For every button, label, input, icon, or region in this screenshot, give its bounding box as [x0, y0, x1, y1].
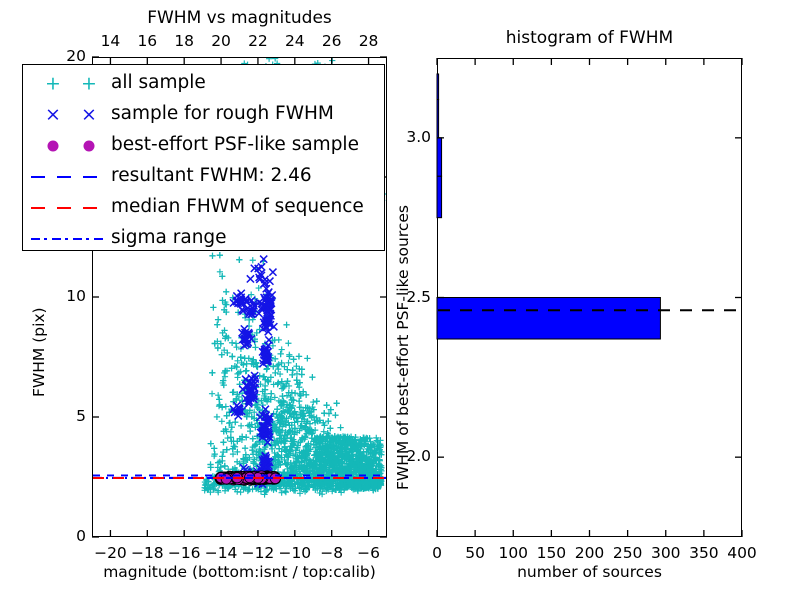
legend-marker-circle-icon — [23, 130, 111, 161]
legend-marker-dashed-line-icon — [23, 192, 111, 223]
legend-marker-cross-icon: ×× — [23, 99, 111, 130]
legend-item-label: all sample — [111, 74, 206, 93]
legend-marker-plus-icon: ++ — [23, 68, 111, 99]
histogram-x-tick-label: 200 — [570, 546, 610, 562]
histogram-x-tick-label: 400 — [722, 546, 762, 562]
legend-item[interactable]: best-effort PSF-like sample — [23, 130, 384, 161]
histogram-x-axis-label: number of sources — [437, 565, 742, 581]
legend-item[interactable]: ××sample for rough FWHM — [23, 99, 384, 130]
legend-item-label: sigma range — [111, 229, 227, 248]
legend-item[interactable]: ++all sample — [23, 68, 384, 99]
legend-item-label: resultant FWHM: 2.46 — [111, 167, 312, 186]
histogram-x-tick-label: 0 — [417, 546, 457, 562]
legend-item-label: best-effort PSF-like sample — [111, 136, 359, 155]
legend-marker-dashdot-line-icon — [23, 223, 111, 254]
figure-canvas: FWHM vs magnitudes −20−18−16−14−12−10−8−… — [0, 0, 800, 600]
legend-item-label: sample for rough FWHM — [111, 105, 334, 124]
histogram-x-tick-label: 150 — [531, 546, 571, 562]
histogram-x-tick-label: 300 — [646, 546, 686, 562]
histogram-x-tick-label: 100 — [493, 546, 533, 562]
histogram-x-tick-label: 50 — [455, 546, 495, 562]
legend-item[interactable]: sigma range — [23, 223, 384, 254]
legend-item[interactable]: resultant FWHM: 2.46 — [23, 161, 384, 192]
histogram-x-tick-label: 250 — [608, 546, 648, 562]
histogram-x-tick-label: 350 — [684, 546, 724, 562]
legend-item-label: median FHWM of sequence — [111, 198, 364, 217]
histogram-y-tick-label: 3.0 — [389, 130, 431, 146]
legend-marker-dashed-line-icon — [23, 161, 111, 192]
histogram-y-axis-label: FWHM of best-effort PSF-like sources — [396, 205, 412, 490]
legend-item[interactable]: median FHWM of sequence — [23, 192, 384, 223]
legend[interactable]: ++all sample××sample for rough FWHMbest-… — [22, 64, 385, 251]
